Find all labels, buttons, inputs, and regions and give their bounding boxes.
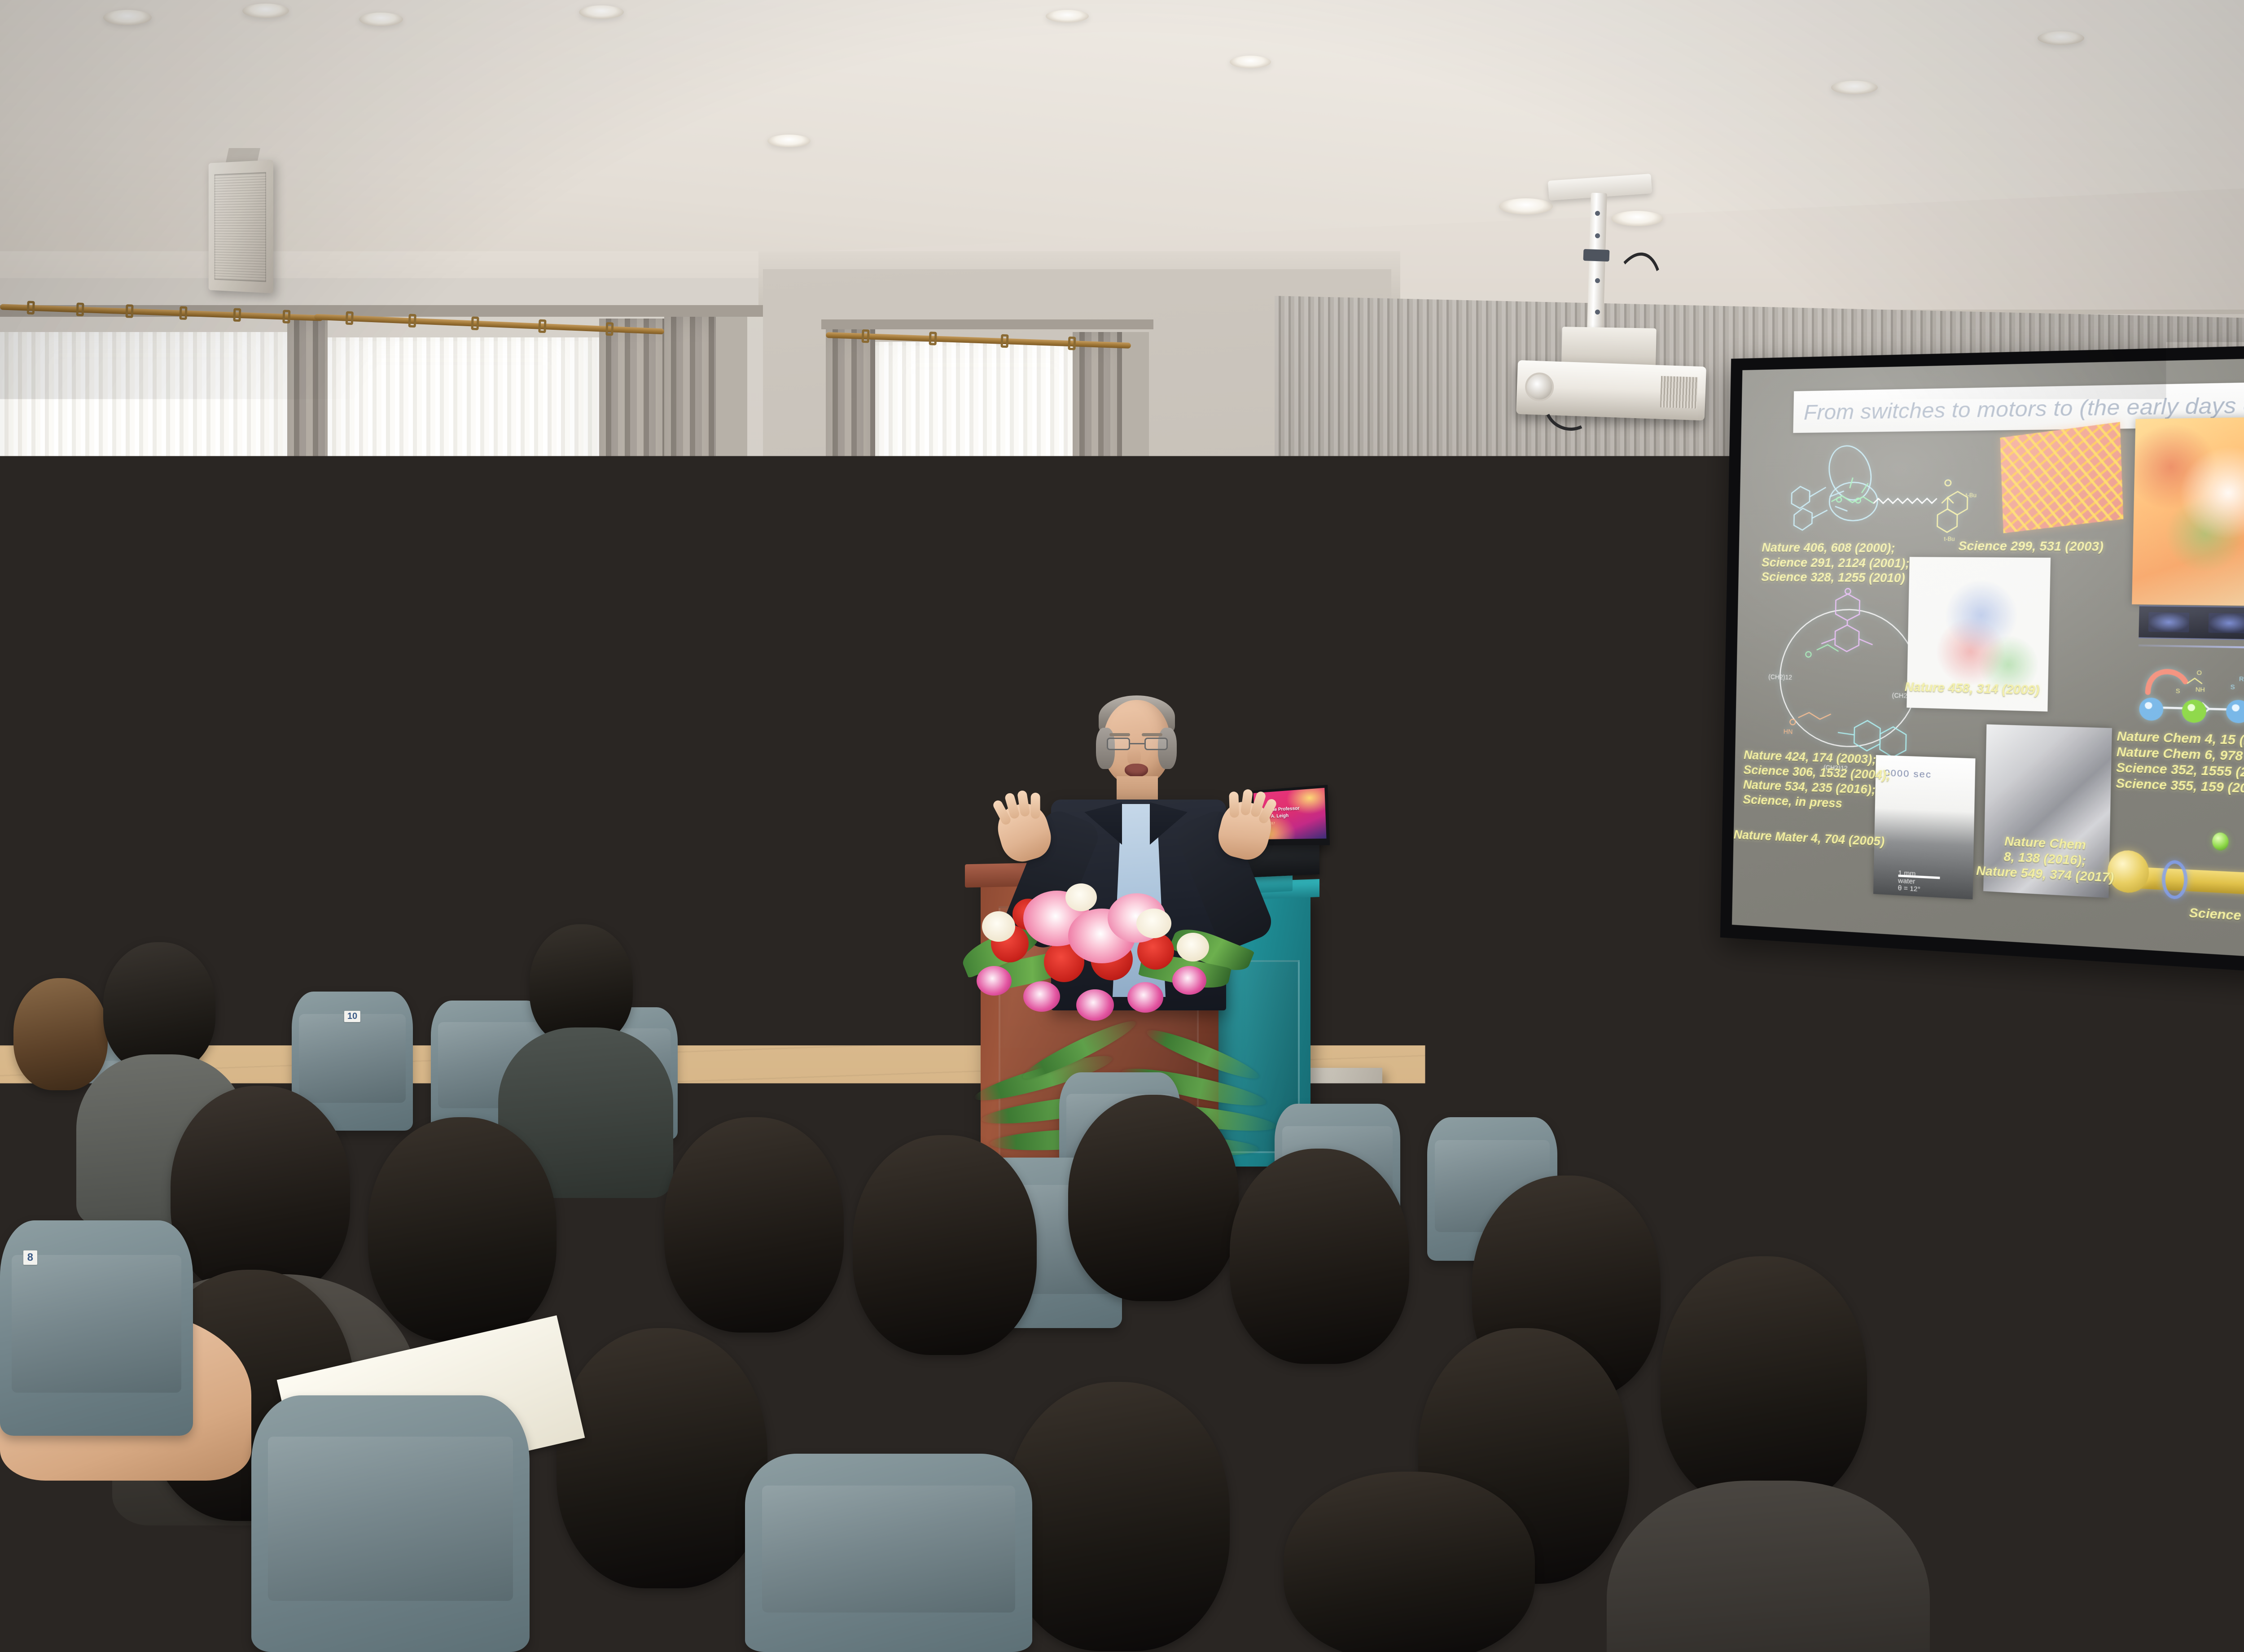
curtain-panel-d — [826, 328, 875, 1027]
svg-text:S: S — [2176, 687, 2180, 694]
ceiling-downlight — [1499, 198, 1553, 214]
svg-text:HN: HN — [1784, 728, 1793, 735]
ceiling-downlight — [242, 4, 289, 18]
svg-text:t-Bu: t-Bu — [1965, 492, 1977, 499]
projector-pole-bolt — [1595, 211, 1600, 216]
ceiling-downlight — [2038, 31, 2084, 45]
audience-head — [664, 1117, 844, 1333]
ceiling-downlight — [1611, 211, 1663, 226]
flower-orchid-magenta — [977, 966, 1012, 996]
seat-back-panel — [2208, 1508, 2244, 1617]
audience-head — [171, 1086, 350, 1297]
auditorium-seat-foreground[interactable] — [2190, 1481, 2244, 1652]
seat-back-panel — [299, 1014, 406, 1103]
seat-back-panel — [268, 1437, 513, 1601]
auditorium-seat-foreground[interactable] — [745, 1454, 1032, 1652]
svg-text:O: O — [2196, 669, 2202, 676]
presenter-mouth — [1125, 764, 1148, 777]
presenter-nose — [1127, 748, 1141, 765]
curtain-rod-ring — [282, 310, 290, 323]
flower-cream — [982, 911, 1015, 942]
screen-frame: From switches to motors to (the early da… — [1720, 339, 2244, 989]
molecule-rotaxane-icon: t-Bu t-Bu — [1764, 428, 1987, 555]
projector-pole-bolt — [1595, 278, 1600, 283]
ceiling-downlight — [1046, 10, 1089, 22]
ceiling-downlight — [1230, 56, 1271, 68]
ceiling-downlight — [579, 5, 624, 19]
svg-text:t-Bu: t-Bu — [1944, 536, 1955, 542]
curtain-rod-ring — [76, 302, 84, 316]
curtain-rod-ring — [1000, 334, 1008, 348]
speaker-grill — [215, 172, 266, 282]
audience-head — [853, 1135, 1037, 1355]
projection-screen: From switches to motors to (the early da… — [1720, 339, 2244, 989]
seat-back-panel — [12, 1255, 181, 1393]
film-frame — [2148, 612, 2190, 632]
audience-head — [1005, 1382, 1230, 1651]
curtain-rod-ring — [126, 304, 134, 318]
citation-science339: Science 339, 189 (2013) — [2189, 905, 2244, 930]
curtain-rod-ring — [862, 329, 870, 343]
projector-pole-collar — [1583, 249, 1610, 262]
auditorium-seat-foreground[interactable] — [251, 1395, 530, 1652]
audience-head — [1661, 1256, 1867, 1508]
flower-cream — [1065, 883, 1097, 911]
auditorium-seat-foreground[interactable]: 8 — [0, 1220, 193, 1436]
lecture-hall-photo: From switches to motors to (the early da… — [0, 0, 2244, 1652]
ceiling-downlight — [767, 135, 811, 147]
curtain-rod-ring — [471, 316, 479, 330]
hand-finger — [1229, 791, 1239, 818]
audience-head — [1230, 1149, 1409, 1364]
molecule-dumbbell-icon: O NH S S R O — [2117, 649, 2244, 743]
curtain-rod-ring — [346, 311, 354, 325]
seat-number-label: 8 — [1971, 1432, 1983, 1445]
ceiling-downlight — [103, 10, 152, 25]
audience-head — [368, 1117, 557, 1342]
projector-vent — [1660, 376, 1698, 409]
seat-back-panel — [1598, 1516, 1858, 1620]
curtain-rod-ring — [179, 306, 187, 320]
auditorium-seat[interactable]: 8 — [1903, 1319, 2051, 1481]
seat-number-label: 8 — [23, 1250, 37, 1265]
citation-nature406: Nature 406, 608 (2000); Science 291, 212… — [1761, 540, 1910, 586]
citation-naturechem8: Nature Chem 8, 138 (2016); Nature 549, 3… — [1976, 833, 2115, 886]
citation-naturemater4: Nature Mater 4, 704 (2005) — [1733, 827, 1885, 849]
audience-head — [1284, 1472, 1535, 1652]
curtain-panel-c — [664, 314, 718, 1059]
flower-cream — [1177, 933, 1209, 961]
window-mullion-right — [821, 319, 1153, 329]
curtain-panel-a — [287, 314, 328, 1059]
flower-orchid-magenta — [1023, 981, 1060, 1012]
molecular-axle-green-node — [2212, 832, 2229, 851]
curtain-rod-ring — [605, 322, 614, 336]
presenter-brow — [1142, 733, 1162, 736]
ceiling-downlight — [359, 13, 403, 26]
wall-speaker — [209, 160, 273, 293]
citation-science299: Science 299, 531 (2003) — [1958, 538, 2104, 555]
flower-cream — [1136, 909, 1171, 938]
glasses-lens-right — [1144, 738, 1168, 750]
hand-finger — [1031, 793, 1040, 819]
citation-naturechem4: Nature Chem 4, 15 (2012); Nature Chem 6,… — [2116, 729, 2244, 799]
audience-head — [103, 942, 215, 1072]
molecular-film-strip — [2139, 605, 2244, 642]
svg-text:R: R — [2239, 675, 2244, 683]
droplet-timer-label: 0000 sec — [1884, 768, 1932, 781]
audience-head — [2087, 1279, 2222, 1431]
presenter-brow — [1109, 733, 1130, 736]
citation-nature424: Nature 424, 174 (2003); Science 306, 153… — [1743, 748, 1891, 813]
projector-pole-bolt — [1595, 233, 1600, 238]
seat-back-panel — [762, 1486, 1015, 1613]
slide-content: From switches to motors to (the early da… — [1732, 352, 2244, 973]
svg-text:NH: NH — [2196, 686, 2205, 693]
droplet-scale-label: 1 mm water θ = 12° — [1898, 870, 1921, 893]
audience-head — [13, 978, 108, 1090]
ceiling-downlight — [1831, 81, 1878, 94]
afm-surface-image — [2000, 422, 2123, 533]
curtain-rod-ring — [233, 308, 241, 322]
audience-head — [557, 1328, 767, 1588]
molecular-axle-macrocycle — [2161, 860, 2188, 900]
bottle-cap — [1952, 1298, 1964, 1310]
curtain-rod-ring — [929, 332, 937, 345]
illustration-molecular-pump — [2132, 417, 2244, 606]
curtain-rod-ring — [408, 314, 416, 328]
curtain-rod-ring — [27, 301, 35, 315]
glasses-lens-left — [1107, 738, 1130, 750]
flower-orchid-magenta — [1172, 966, 1206, 995]
seat-number-label: 10 — [344, 1011, 360, 1022]
curtain-rod-ring — [538, 319, 546, 333]
curtain-rod-ring — [1068, 337, 1076, 350]
auditorium-seat-foreground[interactable] — [1580, 1490, 1876, 1652]
svg-text:S: S — [2230, 683, 2235, 690]
window-frame-mid — [716, 314, 747, 1059]
flower-orchid-magenta — [1127, 982, 1163, 1013]
svg-text:(CH2)12: (CH2)12 — [1768, 673, 1792, 681]
audience-head — [1068, 1095, 1239, 1301]
film-frame — [2209, 613, 2244, 634]
glasses-bridge — [1130, 743, 1144, 744]
